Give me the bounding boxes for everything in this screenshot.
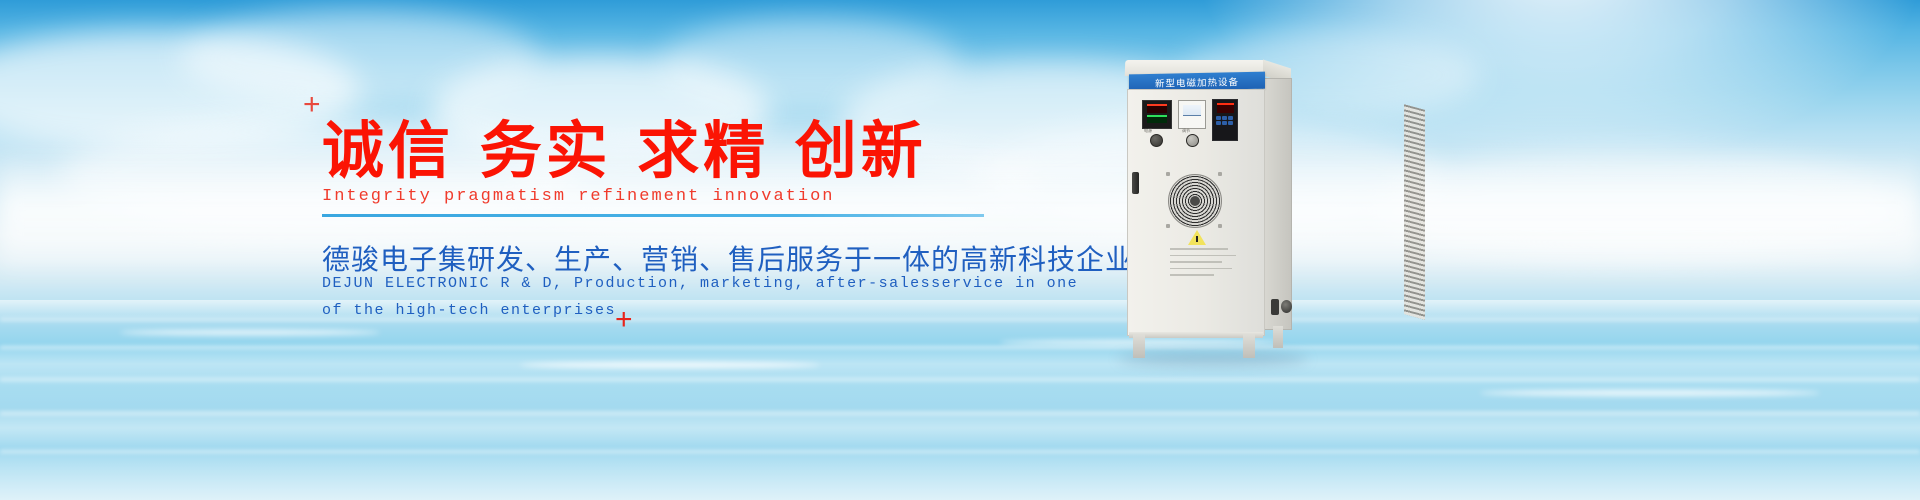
machine-leg	[1133, 334, 1145, 358]
wave-line	[0, 318, 1920, 321]
machine-right-side	[1262, 78, 1292, 330]
headline-chinese: 诚信 务实 求精 创新	[322, 120, 927, 182]
wave-line	[0, 412, 1920, 415]
water-glint	[1480, 390, 1820, 396]
knob-right-label: 调节	[1182, 128, 1190, 134]
keypad-key[interactable]	[1216, 116, 1221, 120]
meter-dial	[1183, 105, 1201, 116]
screw-icon	[1218, 172, 1222, 176]
keypad-key[interactable]	[1222, 121, 1227, 125]
wave-line	[0, 378, 1920, 381]
fan-grille-icon	[1168, 174, 1222, 228]
spec-line	[1170, 248, 1228, 250]
digital-readout-green	[1147, 115, 1167, 123]
keypad-module[interactable]	[1212, 99, 1238, 141]
ventilation-slots	[1404, 104, 1425, 320]
water-glint	[520, 362, 820, 368]
spec-line	[1170, 255, 1236, 257]
keypad-key[interactable]	[1228, 121, 1233, 125]
screw-icon	[1166, 172, 1170, 176]
keypad-display	[1217, 103, 1234, 113]
screw-icon	[1166, 224, 1170, 228]
digital-readout-red	[1147, 104, 1167, 113]
spec-line	[1170, 261, 1222, 263]
machine-leg	[1273, 326, 1283, 348]
wave-line	[0, 346, 1920, 349]
sea-surface	[0, 300, 1920, 500]
keypad-buttons[interactable]	[1216, 116, 1234, 125]
knob-left-label: 电源	[1144, 128, 1152, 134]
keypad-key[interactable]	[1216, 121, 1221, 125]
spec-line	[1170, 268, 1232, 270]
cable-outlet	[1281, 300, 1292, 313]
machine-leg	[1243, 334, 1255, 358]
plus-marker-icon: +	[615, 305, 633, 335]
wave-line	[0, 450, 1920, 453]
machine-front-panel: 电源 调节	[1127, 89, 1265, 336]
product-image-heating-machine: 新型电磁加热设备 电源 调节	[1125, 60, 1290, 360]
promotional-banner: + + 诚信 务实 求精 创新 Integrity pragmatism ref…	[0, 0, 1920, 500]
spec-line	[1170, 274, 1214, 276]
water-glint	[120, 330, 380, 335]
tagline-english-line-2: of the high-tech enterprises	[322, 302, 616, 319]
adjust-knob[interactable]	[1186, 134, 1199, 147]
door-handle[interactable]	[1132, 172, 1139, 194]
screw-icon	[1218, 224, 1222, 228]
keypad-key[interactable]	[1222, 116, 1227, 120]
digital-controller-icon[interactable]	[1142, 100, 1172, 129]
analog-meter-icon	[1178, 100, 1206, 129]
tagline-chinese: 德骏电子集研发、生产、营销、售后服务于一体的高新科技企业	[322, 238, 1134, 278]
plus-marker-icon: +	[303, 90, 321, 120]
spec-label-block	[1170, 248, 1240, 281]
divider-line	[322, 214, 984, 217]
power-knob[interactable]	[1150, 134, 1163, 147]
side-port	[1271, 299, 1279, 315]
tagline-english-line-1: DEJUN ELECTRONIC R & D, Production, mark…	[322, 275, 1078, 292]
keypad-key[interactable]	[1228, 116, 1233, 120]
machine-label-text: 新型电磁加热设备	[1155, 74, 1239, 90]
headline-english: Integrity pragmatism refinement innovati…	[322, 187, 834, 206]
warning-triangle-icon	[1188, 230, 1206, 245]
